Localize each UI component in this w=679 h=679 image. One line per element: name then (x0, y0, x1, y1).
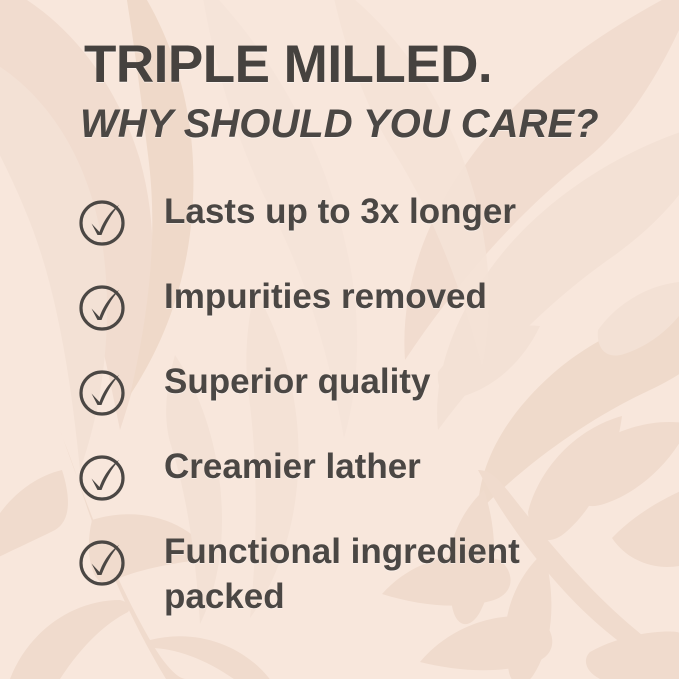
check-circle-icon (76, 534, 130, 588)
list-item: Functional ingredient packed (0, 520, 679, 630)
check-circle-icon (76, 449, 130, 503)
page-subtitle: WHY SHOULD YOU CARE? (80, 104, 599, 144)
check-circle-icon (76, 279, 130, 333)
benefit-label: Lasts up to 3x longer (164, 189, 594, 234)
benefit-list: Lasts up to 3x longer Impurities removed (0, 180, 679, 630)
list-item: Creamier lather (0, 435, 679, 520)
list-item: Superior quality (0, 350, 679, 435)
list-item: Impurities removed (0, 265, 679, 350)
product-benefits-poster: TRIPLE MILLED. WHY SHOULD YOU CARE? Last… (0, 0, 679, 679)
check-circle-icon (76, 364, 130, 418)
check-circle-icon (76, 194, 130, 248)
benefit-label: Impurities removed (164, 274, 594, 319)
benefit-label: Functional ingredient packed (164, 529, 594, 619)
list-item: Lasts up to 3x longer (0, 180, 679, 265)
benefit-label: Superior quality (164, 359, 594, 404)
page-title: TRIPLE MILLED. (84, 38, 492, 91)
poster-content: TRIPLE MILLED. WHY SHOULD YOU CARE? Last… (0, 0, 679, 679)
benefit-label: Creamier lather (164, 444, 594, 489)
